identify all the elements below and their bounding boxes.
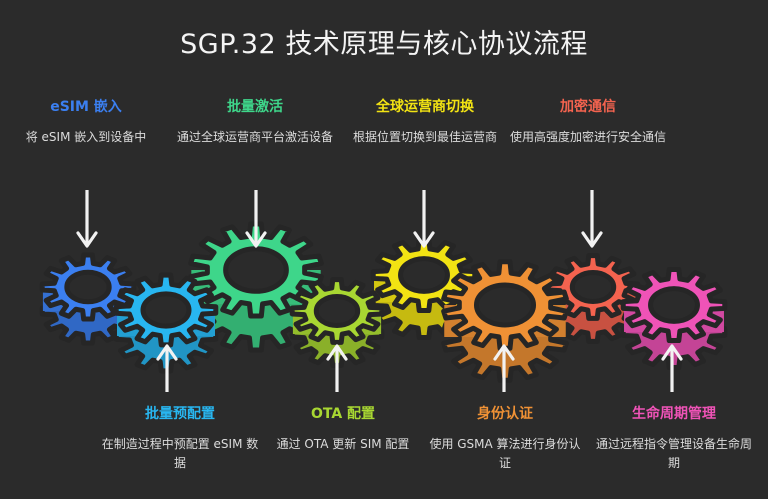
arrow-down-0-head xyxy=(78,233,96,246)
gear-authentication-hub xyxy=(476,285,533,325)
gear-bulk-preconfig-face xyxy=(116,275,216,345)
arrow-down-1 xyxy=(247,190,265,246)
gear-lifecycle-hub xyxy=(651,289,698,322)
gear-operator-switch xyxy=(373,239,475,337)
step-description: 在制造过程中预配置 eSIM 数据 xyxy=(100,435,260,473)
gear-secure-comm xyxy=(548,256,638,342)
gear-operator-switch-extrusion xyxy=(374,275,474,302)
gear-secure-comm-extrusion xyxy=(549,287,637,310)
step-title: 批量激活 xyxy=(175,98,335,116)
gear-bulk-preconfig-side xyxy=(116,301,216,371)
gear-esim-embed-face xyxy=(42,255,134,319)
gear-authentication-side xyxy=(444,294,567,381)
gear-lifecycle-side xyxy=(623,296,725,367)
gear-secure-comm-side xyxy=(548,279,638,342)
gear-ota-config xyxy=(292,280,382,366)
gear-lifecycle xyxy=(623,269,725,367)
gear-bulk-activate-extrusion xyxy=(191,270,320,304)
gear-secure-comm-hub xyxy=(572,273,613,302)
arrow-up-3 xyxy=(663,346,681,392)
gear-esim-embed xyxy=(42,255,134,343)
gear-bulk-preconfig xyxy=(116,275,216,371)
gear-bulk-preconfig-hub xyxy=(143,294,189,326)
step-title: 批量预配置 xyxy=(100,405,260,423)
step-description: 使用高强度加密进行安全通信 xyxy=(508,128,668,147)
arrow-up-2-head xyxy=(495,346,513,359)
arrow-down-3 xyxy=(583,190,601,246)
step-description: 将 eSIM 嵌入到设备中 xyxy=(6,128,166,147)
step-description: 使用 GSMA 算法进行身份认证 xyxy=(425,435,585,473)
step-label-operator-switch: 全球运营商切换 根据位置切换到最佳运营商 xyxy=(345,98,505,147)
arrow-up-1 xyxy=(328,346,346,392)
arrow-up-2 xyxy=(495,346,513,392)
gear-bulk-preconfig-extrusion xyxy=(117,310,215,336)
step-label-secure-comm: 加密通信 使用高强度加密进行安全通信 xyxy=(508,98,668,147)
step-title: 全球运营商切换 xyxy=(345,98,505,116)
page-title: SGP.32 技术原理与核心协议流程 xyxy=(0,22,768,61)
arrow-up-0-head xyxy=(158,346,176,359)
step-title: OTA 配置 xyxy=(263,405,423,423)
gear-ota-config-side xyxy=(292,303,382,366)
gear-bulk-activate xyxy=(191,224,322,350)
gear-bulk-activate-hub xyxy=(226,249,287,292)
gear-bulk-activate-face xyxy=(191,224,322,316)
step-label-ota-config: OTA 配置 通过 OTA 更新 SIM 配置 xyxy=(263,405,423,454)
step-label-authentication: 身份认证 使用 GSMA 算法进行身份认证 xyxy=(425,405,585,473)
arrow-down-2-head xyxy=(415,233,433,246)
step-title: 加密通信 xyxy=(508,98,668,116)
gear-esim-embed-hub xyxy=(67,272,109,302)
gear-ota-config-face xyxy=(292,280,382,343)
gear-authentication-extrusion xyxy=(444,305,566,337)
arrow-down-2 xyxy=(415,190,433,246)
gear-esim-embed-side xyxy=(42,279,134,343)
arrow-up-1-head xyxy=(328,346,346,359)
step-label-bulk-activate: 批量激活 通过全球运营商平台激活设备 xyxy=(175,98,335,147)
gear-secure-comm-face xyxy=(548,256,638,319)
arrow-down-1-head xyxy=(247,233,265,246)
step-label-bulk-preconfig: 批量预配置 在制造过程中预配置 eSIM 数据 xyxy=(100,405,260,473)
arrow-down-0 xyxy=(78,190,96,246)
gear-authentication-face xyxy=(444,262,567,349)
gear-ota-config-hub xyxy=(316,297,357,326)
step-label-esim-embed: eSIM 嵌入 将 eSIM 嵌入到设备中 xyxy=(6,98,166,147)
arrow-up-0 xyxy=(158,346,176,392)
gear-operator-switch-face xyxy=(373,239,475,310)
gear-lifecycle-face xyxy=(623,269,725,340)
gear-esim-embed-extrusion xyxy=(43,287,133,311)
step-description: 通过远程指令管理设备生命周期 xyxy=(594,435,754,473)
arrow-up-3-head xyxy=(663,346,681,359)
step-label-lifecycle: 生命周期管理 通过远程指令管理设备生命周期 xyxy=(594,405,754,473)
gear-operator-switch-side xyxy=(373,266,475,337)
step-title: 身份认证 xyxy=(425,405,585,423)
step-title: eSIM 嵌入 xyxy=(6,98,166,116)
step-description: 通过全球运营商平台激活设备 xyxy=(175,128,335,147)
gear-ota-config-extrusion xyxy=(293,311,381,334)
gear-operator-switch-hub xyxy=(401,259,448,292)
step-title: 生命周期管理 xyxy=(594,405,754,423)
infographic-canvas: SGP.32 技术原理与核心协议流程 eSIM 嵌入 将 eSIM 嵌入到设备中… xyxy=(0,0,768,499)
step-description: 根据位置切换到最佳运营商 xyxy=(345,128,505,147)
gear-bulk-activate-side xyxy=(191,258,322,350)
arrow-down-3-head xyxy=(583,233,601,246)
gear-authentication xyxy=(444,262,567,381)
gear-lifecycle-extrusion xyxy=(624,305,724,332)
step-description: 通过 OTA 更新 SIM 配置 xyxy=(263,435,423,454)
